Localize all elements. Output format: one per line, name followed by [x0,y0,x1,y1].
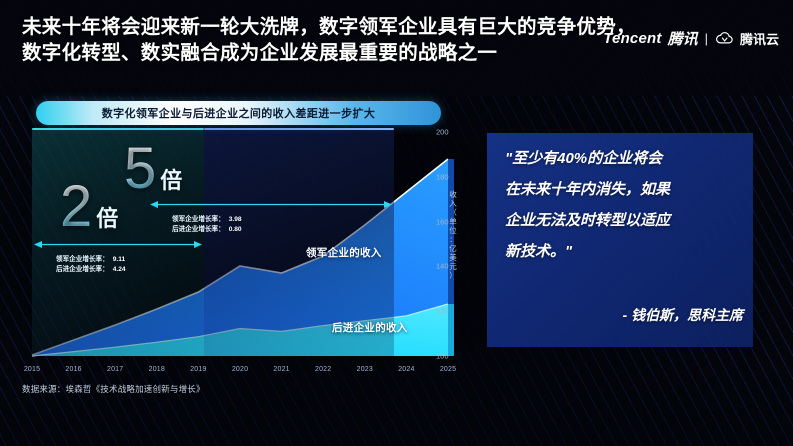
growth-rate-5x-leader-label: 领军企业增长率： [172,215,225,225]
quote-card: "至少有40%的企业将会 在未来十年内消失，如果 企业无法及时转型以适应 新技术… [487,133,753,347]
multiple-2x: 2 倍 [60,180,118,234]
multiple-5x: 5 倍 [124,142,182,196]
quote-line-2: 在未来十年内消失，如果 [505,174,741,205]
growth-rate-2x-laggard-value: 4.24 [113,265,126,275]
multiple-5x-number: 5 [124,142,156,196]
multiple-2x-unit: 倍 [96,204,118,234]
y-axis-tick-180: 180 [436,172,449,181]
growth-rate-5x-laggard: 后进企业增长率： 0.80 [172,225,242,235]
growth-rates-2x: 领军企业增长率： 9.11 后进企业增长率： 4.24 [56,255,126,275]
x-axis-tick-2020: 2020 [232,366,248,373]
series-label-leader: 领军企业的收入 [306,245,382,260]
x-axis-tick-2019: 2019 [190,366,206,373]
growth-panel-5x-topline [204,128,394,130]
growth-panel-2x-topline [32,128,204,130]
x-axis-tick-2024: 2024 [398,366,414,373]
chart-banner-title: 数字化领军企业与后进企业之间的收入差距进一步扩大 [36,101,441,125]
headline-line-2: 数字化转型、数实融合成为企业发展最重要的战略之一 [22,40,642,66]
revenue-gap-chart: 2 倍 5 倍 领军企业增长率： 9.11 后进企业增长率： 4.24 领军 [24,128,456,372]
brand-tencent-en: Tencent [603,30,661,47]
multiple-5x-unit: 倍 [160,166,182,196]
tencent-cloud-logo: Tencent 腾讯 | 腾讯云 [603,28,779,49]
y-axis-tick-120: 120 [436,307,449,316]
span-arrow-5x [150,200,392,209]
y-axis-tick-100: 100 [436,352,449,361]
brand-divider: | [705,31,708,46]
series-label-laggard: 后进企业的收入 [332,320,408,335]
growth-rate-5x-laggard-value: 0.80 [229,225,242,235]
growth-rates-5x: 领军企业增长率： 3.98 后进企业增长率： 0.80 [172,215,242,235]
growth-rate-2x-laggard-label: 后进企业增长率： [56,265,109,275]
x-axis-tick-2015: 2015 [24,366,40,373]
x-axis-tick-2018: 2018 [149,366,165,373]
multiple-2x-number: 2 [60,180,92,234]
growth-rate-2x-leader-value: 9.11 [113,255,125,265]
brand-tencent-cn: 腾讯 [668,28,698,49]
x-axis-tick-2023: 2023 [357,366,373,373]
quote-line-3: 企业无法及时转型以适应 [505,205,741,236]
x-axis-tick-2017: 2017 [107,366,123,373]
page-headline: 未来十年将会迎来新一轮大洗牌，数字领军企业具有巨大的竞争优势， 数字化转型、数实… [22,14,642,66]
y-axis-title: 收入（单位：亿美元） [447,190,459,280]
growth-rate-2x-leader-label: 领军企业增长率： [56,255,109,265]
growth-rate-5x-leader: 领军企业增长率： 3.98 [172,215,242,225]
growth-rate-2x-laggard: 后进企业增长率： 4.24 [56,265,126,275]
source-note: 数据来源：埃森哲《技术战略加速创新与增长》 [22,383,205,395]
span-arrow-2x [34,240,202,249]
quote-text: "至少有40%的企业将会 在未来十年内消失，如果 企业无法及时转型以适应 新技术… [505,143,741,267]
cloud-icon [715,29,734,48]
y-axis-tick-200: 200 [436,128,449,137]
growth-rate-2x-leader: 领军企业增长率： 9.11 [56,255,126,265]
x-axis-labels: 2015201620172018201920202021202220232024… [24,366,456,380]
growth-rate-5x-leader-value: 3.98 [229,215,242,225]
growth-rate-5x-laggard-label: 后进企业增长率： [172,225,225,235]
headline-line-1: 未来十年将会迎来新一轮大洗牌，数字领军企业具有巨大的竞争优势， [22,14,642,40]
quote-attribution: - 钱伯斯，思科主席 [622,305,743,325]
quote-line-1: "至少有40%的企业将会 [505,143,741,174]
brand-cloud-label: 腾讯云 [740,29,779,48]
quote-line-4: 新技术。" [505,236,741,267]
x-axis-tick-2021: 2021 [273,366,289,373]
chart-banner: 数字化领军企业与后进企业之间的收入差距进一步扩大 [36,101,441,125]
x-axis-tick-2022: 2022 [315,366,331,373]
x-axis-tick-2016: 2016 [65,366,81,373]
